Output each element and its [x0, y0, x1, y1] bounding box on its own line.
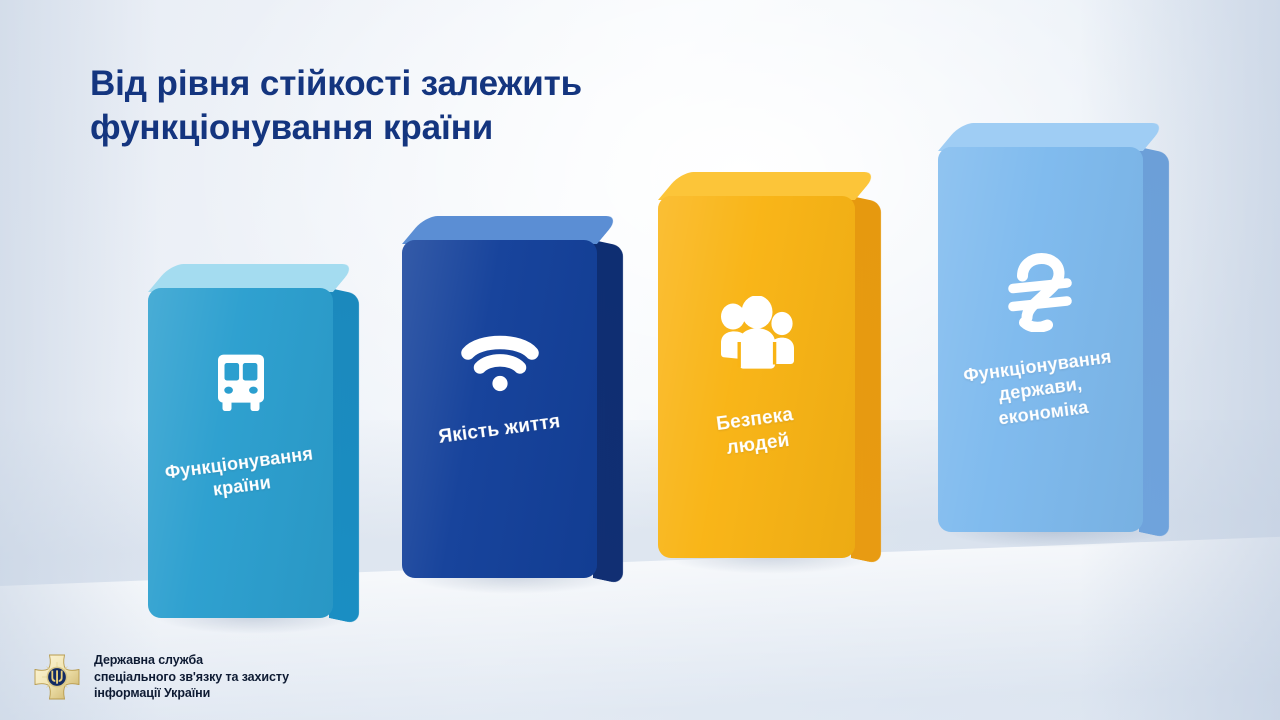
card-side-face: [593, 240, 623, 584]
footer-organization-name: Державна служба спеціального зв'язку та …: [94, 652, 289, 702]
card-bezpeka-liudei[interactable]: Безпека людей: [658, 196, 855, 558]
bus-icon: [208, 354, 274, 421]
card-front-face: [938, 147, 1143, 532]
card-funkcionuvannia-derzhavy-ekonomika[interactable]: Функціонування держави, економіка: [938, 147, 1143, 532]
card-side-face: [329, 288, 359, 624]
card-side-face: [851, 196, 881, 564]
footer-branding: Державна служба спеціального зв'язку та …: [33, 652, 289, 702]
card-yakist-zhyttia[interactable]: Якість життя: [402, 240, 597, 578]
card-front-face: [658, 196, 855, 558]
card-funkcionuvannia-krayiny[interactable]: Функціонування країни: [148, 288, 333, 618]
hryvnia-icon: [1004, 252, 1078, 337]
page-title: Від рівня стійкості залежить функціонува…: [90, 62, 830, 151]
people-group-icon: [713, 296, 801, 375]
sszzi-cross-trident-emblem: [33, 653, 81, 701]
card-side-face: [1139, 147, 1169, 538]
slide-canvas: Від рівня стійкості залежить функціонува…: [0, 0, 1280, 720]
wifi-icon: [461, 332, 539, 399]
